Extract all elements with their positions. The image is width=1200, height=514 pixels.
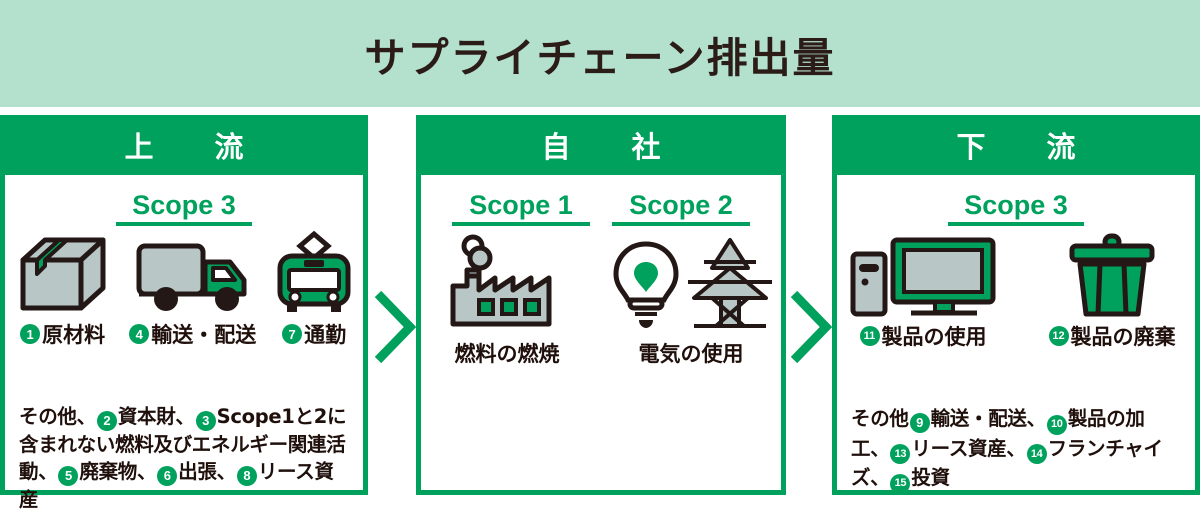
item-label: 製品の使用 bbox=[882, 321, 987, 351]
panel-own-header-label: 自 社 bbox=[525, 124, 676, 166]
item-product-disposal[interactable]: 12 製品の廃棄 bbox=[1032, 232, 1192, 351]
scope-underline bbox=[948, 222, 1084, 226]
page-title: サプライチェーン排出量 bbox=[365, 24, 836, 84]
panel-upstream-header-label: 上 流 bbox=[108, 124, 259, 166]
desktop-computer-icon bbox=[847, 232, 999, 318]
panel-downstream: 下 流 Scope 3 11 製品の使用 bbox=[832, 115, 1200, 495]
item-commuting[interactable]: 7 通勤 bbox=[265, 232, 363, 349]
scope-block-downstream-3: Scope 3 bbox=[948, 191, 1084, 226]
trash-bin-icon bbox=[1062, 232, 1162, 318]
downstream-scope-row: Scope 3 bbox=[837, 191, 1195, 226]
scope-underline bbox=[452, 222, 590, 226]
note-text: 廃棄物、 bbox=[79, 460, 156, 483]
item-label: 輸送・配送 bbox=[151, 319, 256, 349]
item-transport-upstream-caption: 4 輸送・配送 bbox=[129, 319, 256, 349]
train-icon bbox=[270, 232, 358, 316]
page-banner: サプライチェーン排出量 bbox=[0, 0, 1200, 107]
badge-number: 11 bbox=[860, 326, 880, 346]
factory-icon bbox=[447, 234, 567, 332]
badge-number: 3 bbox=[196, 411, 216, 431]
cardboard-box-icon bbox=[15, 232, 111, 316]
downstream-note: その他9輸送・配送、10製品の加工、13リース資産、14フランチャイズ、15投資 bbox=[851, 405, 1181, 494]
item-product-disposal-caption: 12 製品の廃棄 bbox=[1049, 321, 1176, 351]
badge-number: 5 bbox=[58, 466, 78, 486]
own-scope-row: Scope 1 Scope 2 bbox=[421, 191, 781, 226]
panel-upstream-header: 上 流 bbox=[0, 115, 368, 175]
item-raw-materials[interactable]: 1 原材料 bbox=[5, 232, 120, 349]
chevron-right-icon-1 bbox=[372, 288, 416, 366]
item-label: 製品の廃棄 bbox=[1071, 321, 1176, 351]
truck-icon bbox=[134, 232, 252, 316]
chevron-right-icon-2 bbox=[788, 288, 832, 366]
panel-upstream: 上 流 Scope 3 1 原材料 bbox=[0, 115, 368, 495]
upstream-scope-row: Scope 3 bbox=[5, 191, 363, 226]
badge-number: 10 bbox=[1047, 415, 1067, 435]
badge-number: 13 bbox=[890, 444, 910, 464]
badge-number: 9 bbox=[910, 413, 930, 433]
badge-number: 2 bbox=[97, 411, 117, 431]
item-electricity-use[interactable]: 電気の使用 bbox=[608, 234, 774, 368]
scope-underline bbox=[612, 222, 750, 226]
item-fuel-combustion-label: 燃料の燃焼 bbox=[455, 338, 560, 368]
badge-number: 7 bbox=[282, 324, 302, 344]
upstream-note-text: その他、2資本財、3Scope1と2に含まれない燃料及びエネルギー関連活動、5廃… bbox=[19, 405, 346, 511]
badge-number: 6 bbox=[157, 466, 177, 486]
panel-downstream-header: 下 流 bbox=[832, 115, 1200, 175]
item-fuel-combustion[interactable]: 燃料の燃焼 bbox=[428, 234, 586, 368]
item-electricity-use-label: 電気の使用 bbox=[639, 338, 744, 368]
note-text: 輸送・配送、 bbox=[931, 407, 1046, 430]
panel-own-company: 自 社 Scope 1 Scope 2 bbox=[416, 115, 786, 495]
scope-block-own-1: Scope 1 bbox=[452, 191, 590, 226]
downstream-icons-row: 11 製品の使用 12 製品の廃棄 bbox=[837, 232, 1195, 351]
scope-label-downstream: Scope 3 bbox=[964, 191, 1068, 219]
item-transport-upstream[interactable]: 4 輸送・配送 bbox=[124, 232, 261, 349]
panel-downstream-header-label: 下 流 bbox=[940, 124, 1091, 166]
item-product-use[interactable]: 11 製品の使用 bbox=[840, 232, 1006, 351]
item-raw-materials-caption: 1 原材料 bbox=[20, 319, 105, 349]
upstream-note: その他、2資本財、3Scope1と2に含まれない燃料及びエネルギー関連活動、5廃… bbox=[19, 403, 349, 514]
panel-own-header: 自 社 bbox=[416, 115, 786, 175]
scope-label-own-2: Scope 2 bbox=[629, 191, 733, 219]
note-text: リース資産、 bbox=[911, 437, 1025, 460]
item-label: 通勤 bbox=[304, 319, 346, 349]
scope-underline bbox=[116, 222, 252, 226]
scope-block-upstream-3: Scope 3 bbox=[116, 191, 252, 226]
scope-label-upstream: Scope 3 bbox=[132, 191, 236, 219]
scope-block-own-2: Scope 2 bbox=[612, 191, 750, 226]
note-text: 投資 bbox=[911, 466, 949, 489]
item-product-use-caption: 11 製品の使用 bbox=[860, 321, 987, 351]
badge-number: 4 bbox=[129, 324, 149, 344]
item-commuting-caption: 7 通勤 bbox=[282, 319, 346, 349]
badge-number: 12 bbox=[1049, 326, 1069, 346]
note-text: その他、 bbox=[19, 405, 96, 428]
scope-label-own-1: Scope 1 bbox=[469, 191, 573, 219]
downstream-note-text: その他9輸送・配送、10製品の加工、13リース資産、14フランチャイズ、15投資 bbox=[851, 407, 1163, 489]
note-text: その他 bbox=[851, 407, 909, 430]
badge-number: 8 bbox=[237, 466, 257, 486]
upstream-icons-row: 1 原材料 4 輸送・配送 bbox=[5, 232, 363, 349]
own-icons-row: 燃料の燃焼 bbox=[421, 234, 781, 368]
badge-number: 1 bbox=[20, 324, 40, 344]
note-text: 出張、 bbox=[178, 460, 236, 483]
lightbulb-pylon-icon bbox=[608, 234, 774, 332]
badge-number: 15 bbox=[890, 474, 910, 494]
note-text: 資本財、 bbox=[118, 405, 195, 428]
badge-number: 14 bbox=[1027, 444, 1047, 464]
item-label: 原材料 bbox=[42, 319, 105, 349]
